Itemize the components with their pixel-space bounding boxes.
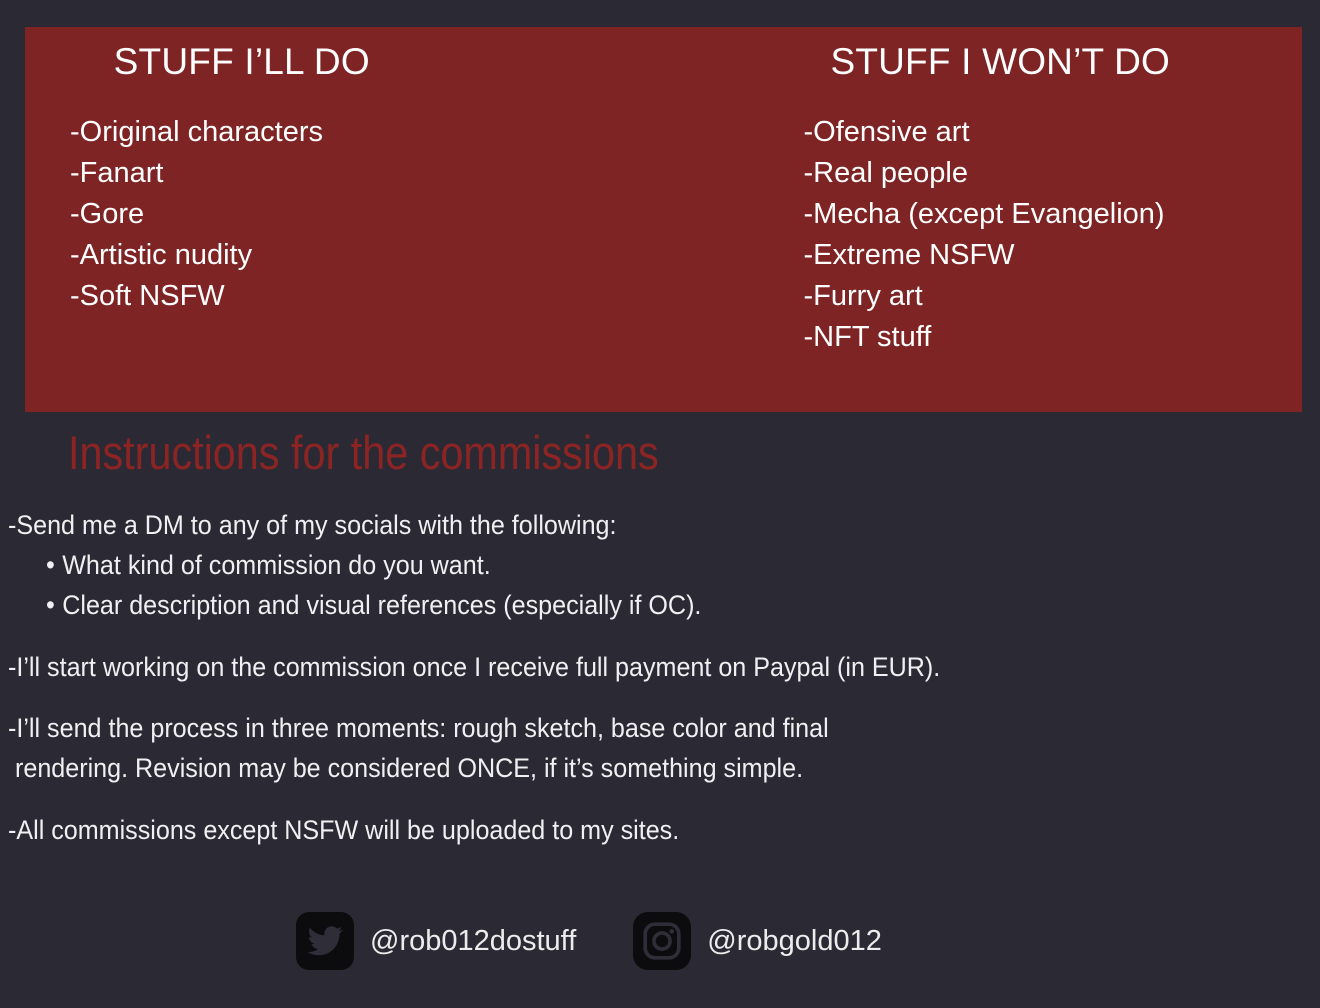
list-item: -Extreme NSFW [804, 235, 1303, 276]
socials-row: @rob012dostuff @robgold012 [296, 912, 882, 970]
instructions-paragraph-payment: -I’ll start working on the commission on… [8, 647, 1217, 687]
will-do-list: -Original characters -Fanart -Gore -Arti… [70, 80, 664, 317]
list-item: -Soft NSFW [70, 276, 664, 317]
instructions-heading: Instructions for the commissions [68, 424, 659, 482]
rules-columns: STUFF I’LL DO -Original characters -Fana… [25, 27, 1302, 412]
twitter-icon[interactable] [296, 912, 354, 970]
list-item: -Ofensive art [804, 112, 1303, 153]
instructions-bullet-list: •What kind of commission do you want. •C… [8, 545, 1308, 625]
bullet-icon: • [46, 590, 55, 620]
list-item: •What kind of commission do you want. [46, 545, 1220, 585]
twitter-handle[interactable]: @rob012dostuff [370, 927, 576, 956]
list-item: •Clear description and visual references… [46, 585, 1220, 625]
list-item: -Real people [804, 153, 1303, 194]
instructions-body: -Send me a DM to any of my socials with … [8, 505, 1308, 850]
instructions-paragraph-upload: -All commissions except NSFW will be upl… [8, 810, 1217, 850]
will-do-title: STUFF I’LL DO [70, 27, 664, 80]
instructions-intro: -Send me a DM to any of my socials with … [8, 505, 1217, 545]
list-item: -Original characters [70, 112, 664, 153]
wont-do-title: STUFF I WON’T DO [804, 27, 1303, 80]
rules-column-will-do: STUFF I’LL DO -Original characters -Fana… [25, 27, 664, 412]
instagram-handle[interactable]: @robgold012 [707, 927, 882, 956]
wont-do-list: -Ofensive art -Real people -Mecha (excep… [804, 80, 1303, 358]
rules-column-wont-do: STUFF I WON’T DO -Ofensive art -Real peo… [664, 27, 1303, 412]
list-item: -Furry art [804, 276, 1303, 317]
list-item: -Mecha (except Evangelion) [804, 194, 1303, 235]
list-item-label: What kind of commission do you want. [62, 550, 490, 580]
list-item: -Artistic nudity [70, 235, 664, 276]
list-item: -Gore [70, 194, 664, 235]
list-item: -NFT stuff [804, 317, 1303, 358]
bullet-icon: • [46, 550, 55, 580]
instructions-paragraph-process: -I’ll send the process in three moments:… [8, 708, 1217, 788]
social-twitter[interactable]: @rob012dostuff [296, 912, 576, 970]
social-instagram[interactable]: @robgold012 [633, 912, 882, 970]
list-item: -Fanart [70, 153, 664, 194]
rules-panel: STUFF I’LL DO -Original characters -Fana… [25, 27, 1302, 412]
list-item-label: Clear description and visual references … [62, 590, 701, 620]
instagram-icon[interactable] [633, 912, 691, 970]
